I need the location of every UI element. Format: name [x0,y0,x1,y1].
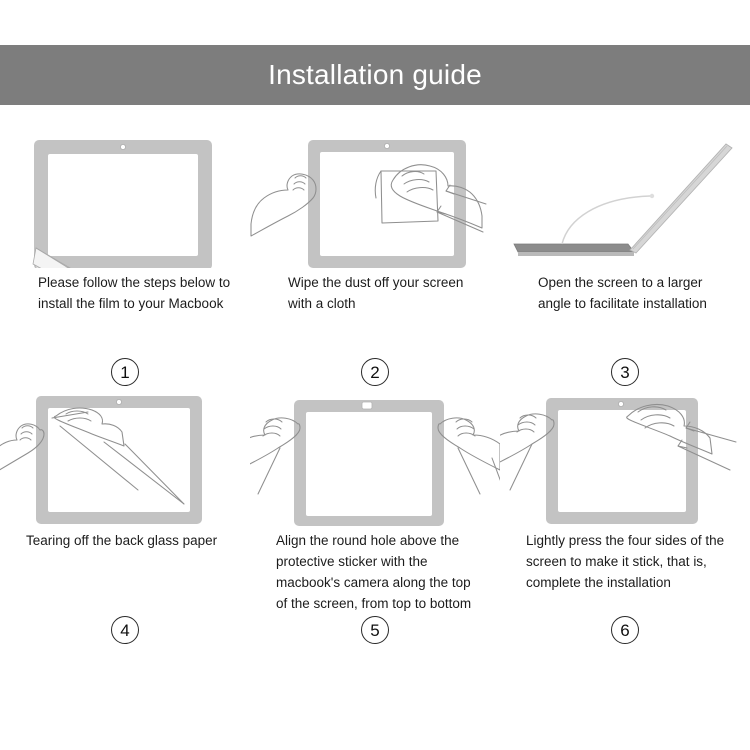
step-1-caption: Please follow the steps below to install… [0,272,250,358]
step-3-illustration [500,128,750,268]
step-4-number-wrap: 4 [0,616,250,644]
hands-wiping-screen-with-cloth-icon [250,128,500,268]
step-card-4: Tearing off the back glass paper 4 [0,386,250,644]
step-5-illustration [250,386,500,526]
step-number-badge: 6 [611,616,639,644]
step-number-badge: 3 [611,358,639,386]
step-4-illustration [0,386,250,526]
step-card-6: Lightly press the four sides of the scre… [500,386,750,644]
page-title: Installation guide [268,59,482,91]
step-number-badge: 5 [361,616,389,644]
step-number-badge: 4 [111,616,139,644]
steps-grid: Please follow the steps below to install… [0,128,750,644]
hand-pressing-screen-icon [500,386,750,526]
step-number-badge: 1 [111,358,139,386]
step-2-illustration [250,128,500,268]
step-6-caption: Lightly press the four sides of the scre… [500,530,750,616]
step-2-caption: Wipe the dust off your screen with a clo… [250,272,500,358]
step-3-number-wrap: 3 [500,358,750,386]
header-bar: Installation guide [0,45,750,105]
step-card-1: Please follow the steps below to install… [0,128,250,386]
step-3-caption: Open the screen to a larger angle to fac… [500,272,750,358]
installation-guide-page: Installation guide Please follo [0,0,750,750]
step-4-caption: Tearing off the back glass paper [0,530,250,616]
step-number-badge: 2 [361,358,389,386]
laptop-side-view-open-angle-icon [500,128,750,268]
step-card-3: Open the screen to a larger angle to fac… [500,128,750,386]
step-5-caption: Align the round hole above the protectiv… [250,530,500,616]
step-1-number-wrap: 1 [0,358,250,386]
step-2-number-wrap: 2 [250,358,500,386]
hands-peeling-back-paper-icon [0,386,250,526]
laptop-screen-with-peeling-film-corner-icon [0,128,250,268]
step-1-illustration [0,128,250,268]
step-card-5: Align the round hole above the protectiv… [250,386,500,644]
step-6-illustration [500,386,750,526]
two-hands-aligning-film-icon [250,386,500,526]
step-6-number-wrap: 6 [500,616,750,644]
step-5-number-wrap: 5 [250,616,500,644]
step-card-2: Wipe the dust off your screen with a clo… [250,128,500,386]
